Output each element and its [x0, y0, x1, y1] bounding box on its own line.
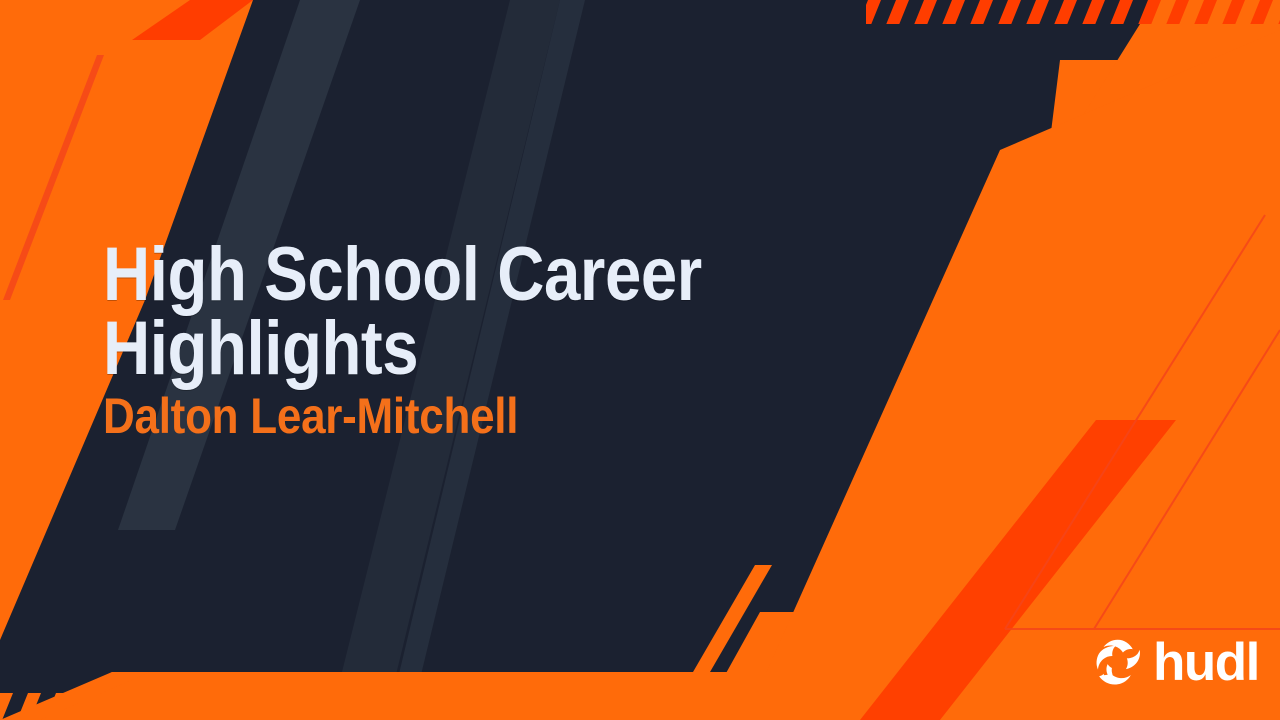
athlete-name: Dalton Lear-Mitchell — [103, 391, 737, 441]
hudl-logo: hudl — [1092, 636, 1259, 689]
hudl-wordmark: hudl — [1153, 636, 1259, 689]
bottom-orange-band — [0, 672, 1280, 720]
page-title: High School Career Highlights — [103, 238, 722, 385]
bottom-left-hatch-stripes — [0, 693, 420, 720]
right-hairline-parallelogram — [1005, 215, 1280, 629]
hudl-pinwheel-icon — [1092, 637, 1144, 689]
title-block: High School Career Highlights Dalton Lea… — [103, 238, 823, 441]
top-right-hatch-stripes — [866, 0, 1280, 24]
title-card-canvas: High School Career Highlights Dalton Lea… — [0, 0, 1280, 720]
bottom-slash-accents — [693, 565, 772, 672]
top-left-accent-bar — [132, 0, 253, 40]
